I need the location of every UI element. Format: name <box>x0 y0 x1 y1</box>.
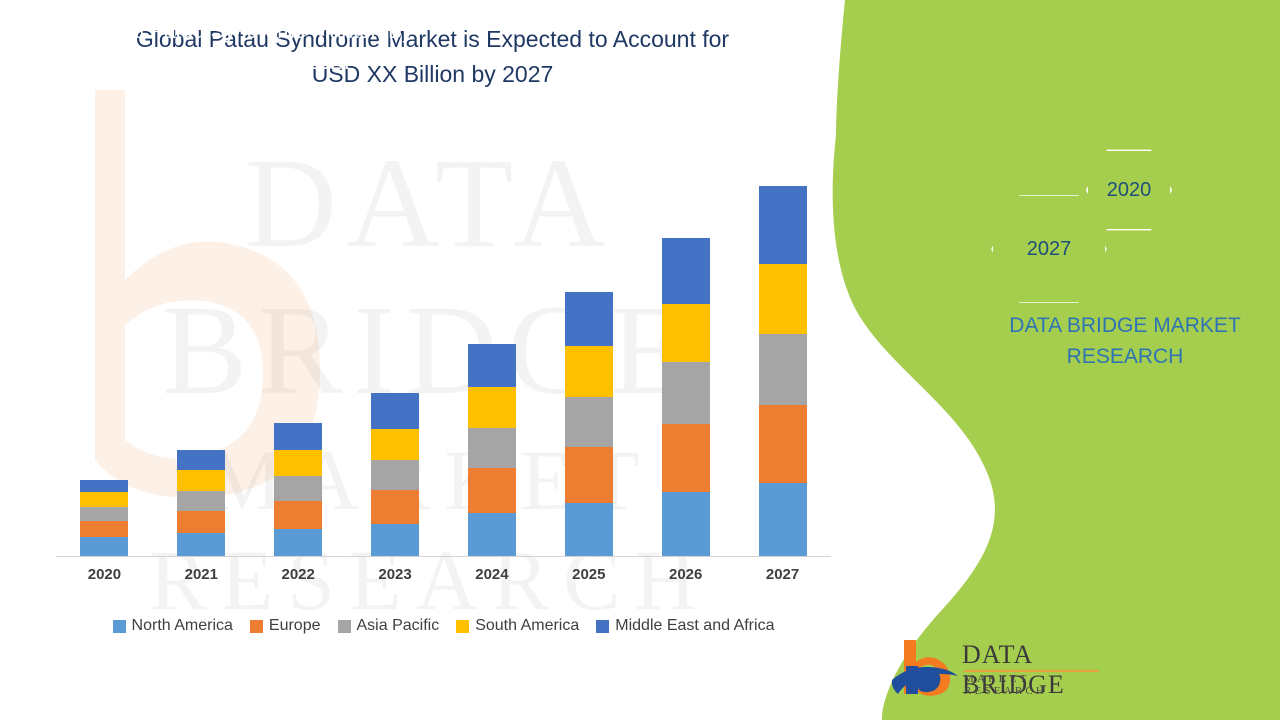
bar-segment-2022-1 <box>274 501 322 529</box>
legend-label-2: Asia Pacific <box>357 617 440 635</box>
legend-label-4: Middle East and Africa <box>615 617 774 635</box>
bar-segment-2025-2 <box>565 397 613 447</box>
bar-2022 <box>274 423 322 557</box>
bar-segment-2023-1 <box>371 490 419 524</box>
legend-swatch-icon-4 <box>596 620 609 633</box>
bar-segment-2021-1 <box>177 511 225 533</box>
bar-segment-2026-2 <box>662 362 710 424</box>
bar-segment-2020-4 <box>80 480 128 492</box>
bar-segment-2024-1 <box>468 468 516 513</box>
chart-legend: North AmericaEuropeAsia PacificSouth Ame… <box>56 617 831 635</box>
bar-segment-2024-3 <box>468 387 516 428</box>
legend-item-0[interactable]: North America <box>113 617 233 635</box>
bar-segment-2024-0 <box>468 513 516 557</box>
x-tick-2021: 2021 <box>156 566 246 583</box>
legend-swatch-icon-3 <box>456 620 469 633</box>
hexagon-2027-label: 2027 <box>1027 238 1072 261</box>
legend-label-0: North America <box>132 617 233 635</box>
legend-item-1[interactable]: Europe <box>250 617 321 635</box>
bar-segment-2026-4 <box>662 238 710 304</box>
green-panel-title-line-1: Global Patau Syndrome Market, By <box>83 20 412 43</box>
bar-segment-2022-2 <box>274 476 322 501</box>
x-tick-2025: 2025 <box>544 566 634 583</box>
hexagon-2020-label: 2020 <box>1107 179 1152 202</box>
bar-segment-2024-2 <box>468 428 516 468</box>
legend-swatch-icon-0 <box>113 620 126 633</box>
bar-segment-2022-4 <box>274 423 322 450</box>
bar-2024 <box>468 344 516 557</box>
legend-item-4[interactable]: Middle East and Africa <box>596 617 774 635</box>
x-tick-2026: 2026 <box>641 566 731 583</box>
legend-swatch-icon-2 <box>338 620 351 633</box>
bar-segment-2023-2 <box>371 460 419 490</box>
bar-segment-2026-0 <box>662 492 710 557</box>
bar-segment-2020-3 <box>80 492 128 507</box>
legend-item-2[interactable]: Asia Pacific <box>338 617 440 635</box>
legend-label-3: South America <box>475 617 579 635</box>
bar-segment-2026-1 <box>662 424 710 492</box>
bar-2020 <box>80 480 128 557</box>
x-tick-2020: 2020 <box>59 566 149 583</box>
bar-segment-2023-3 <box>371 429 419 460</box>
green-panel-title: Global Patau Syndrome Market, By Regions… <box>36 16 460 78</box>
company-logo: DATA BRIDGE MARKET RESEARCH <box>890 636 1105 698</box>
bar-segment-2020-0 <box>80 537 128 557</box>
bar-2023 <box>371 393 419 557</box>
bar-segment-2022-3 <box>274 450 322 476</box>
brand-name-line-1: DATA BRIDGE MARKET <box>1009 314 1240 337</box>
bar-segment-2023-4 <box>371 393 419 429</box>
x-tick-2024: 2024 <box>447 566 537 583</box>
bar-segment-2022-0 <box>274 529 322 557</box>
bar-segment-2026-3 <box>662 304 710 362</box>
legend-item-3[interactable]: South America <box>456 617 579 635</box>
infographic-canvas: DATA BRIDGE MARKET RESEARCH Global Patau… <box>0 0 1280 720</box>
x-tick-2023: 2023 <box>350 566 440 583</box>
bar-segment-2025-3 <box>565 346 613 397</box>
green-panel-title-line-2: Regions, 2020 to 2027 <box>142 51 353 74</box>
bar-segment-2024-4 <box>468 344 516 387</box>
logo-mark-icon <box>890 636 960 698</box>
bar-2025 <box>565 292 613 557</box>
bar-segment-2020-2 <box>80 507 128 521</box>
bar-segment-2021-0 <box>177 533 225 557</box>
bar-2021 <box>177 450 225 557</box>
logo-secondary-text: MARKET RESEARCH <box>964 673 1105 697</box>
bar-segment-2021-3 <box>177 470 225 491</box>
legend-label-1: Europe <box>269 617 321 635</box>
brand-name-line-2: RESEARCH <box>1067 345 1184 368</box>
bar-2026 <box>662 238 710 557</box>
legend-swatch-icon-1 <box>250 620 263 633</box>
logo-divider <box>964 670 1099 672</box>
bar-segment-2025-1 <box>565 447 613 503</box>
bar-segment-2021-4 <box>177 450 225 470</box>
bar-segment-2021-2 <box>177 491 225 511</box>
bar-segment-2023-0 <box>371 524 419 557</box>
x-tick-2022: 2022 <box>253 566 343 583</box>
bar-segment-2025-0 <box>565 503 613 557</box>
chart-plot-area <box>56 100 831 557</box>
brand-name-block: DATA BRIDGE MARKET RESEARCH <box>960 310 1280 372</box>
bar-segment-2025-4 <box>565 292 613 346</box>
bar-segment-2020-1 <box>80 521 128 537</box>
x-axis-line <box>56 556 831 557</box>
